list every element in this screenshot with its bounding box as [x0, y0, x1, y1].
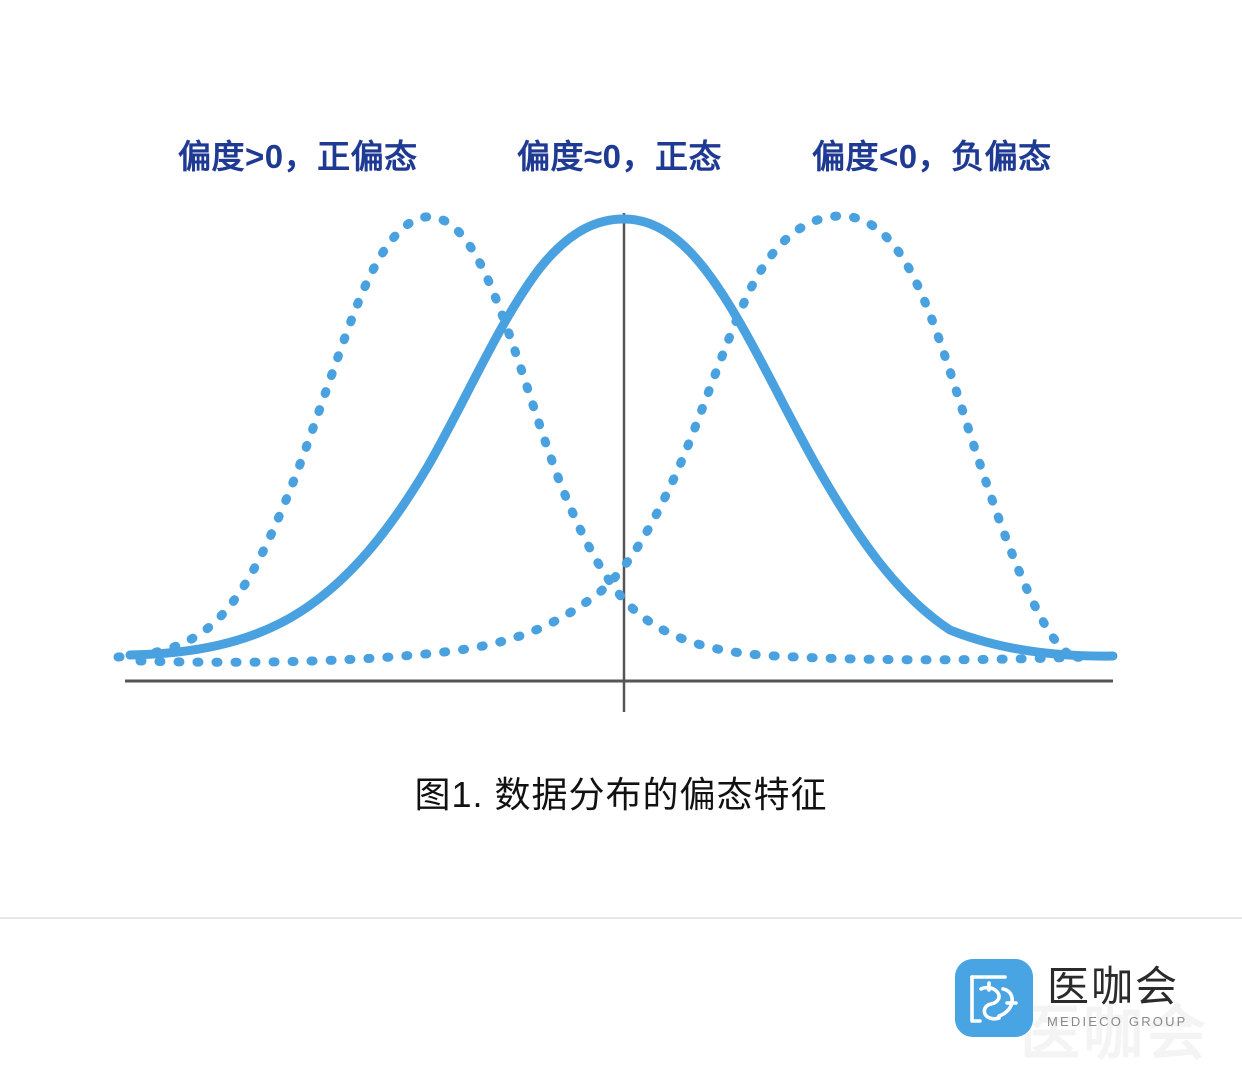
mediceo-logo-icon: [955, 959, 1033, 1037]
brand-name-cn: 医咖会: [1047, 964, 1188, 1010]
figure-root: 偏度>0，正偏态 偏度≈0，正态 偏度<0，负偏态 图1. 数据分布的偏态特征 …: [0, 0, 1242, 1081]
brand-name-en: MEDIECO GROUP: [1047, 1012, 1188, 1032]
brand-text-block: 医咖会 MEDIECO GROUP: [1047, 959, 1188, 1037]
skewness-chart: [0, 0, 1242, 900]
footer-brand-logo: 医咖会 MEDIECO GROUP: [955, 950, 1205, 1046]
figure-caption: 图1. 数据分布的偏态特征: [0, 770, 1242, 820]
curve-negative-skew: [140, 216, 1075, 662]
footer-divider: [0, 917, 1242, 919]
